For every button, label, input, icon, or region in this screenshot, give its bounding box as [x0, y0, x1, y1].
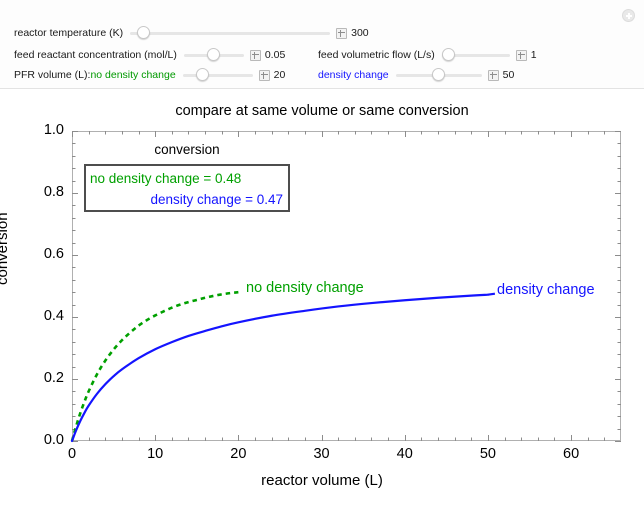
x-tick-label: 50	[463, 446, 513, 462]
slider-feed-volumetric-flow[interactable]	[442, 47, 510, 63]
control-label-feed-reactant-concentration: feed reactant concentration (mol/L)	[14, 46, 177, 64]
control-label-density-change: density change	[318, 66, 389, 84]
slider-thumb[interactable]	[137, 26, 150, 39]
slider-pfr-volume-no-density-change[interactable]	[183, 67, 253, 83]
x-tick-label: 40	[380, 446, 430, 462]
control-label-pfr-volume-prefix: PFR volume (L):	[14, 66, 90, 84]
legend-box: no density change = 0.48 density change …	[84, 164, 290, 212]
slider-thumb[interactable]	[207, 48, 220, 61]
slider-feed-reactant-concentration[interactable]	[184, 47, 244, 63]
stepper-plus-icon-pfr-volume-density-change[interactable]	[488, 70, 499, 81]
y-tick-label: 0.2	[10, 370, 64, 386]
slider-thumb[interactable]	[442, 48, 455, 61]
stepper-plus-icon-feed-volumetric-flow[interactable]	[516, 50, 527, 61]
demonstration-frame: reactor temperature (K) 300 feed reactan…	[0, 0, 644, 509]
y-tick-label: 0.6	[10, 246, 64, 262]
graphics-area: compare at same volume or same conversio…	[0, 89, 644, 509]
x-tick-label: 60	[546, 446, 596, 462]
y-axis-label: conversion	[0, 212, 11, 285]
stepper-plus-icon-feed-reactant-concentration[interactable]	[250, 50, 261, 61]
control-row-reactor-temperature: reactor temperature (K) 300	[14, 24, 369, 42]
slider-thumb[interactable]	[432, 68, 445, 81]
control-label-reactor-temperature: reactor temperature (K)	[14, 24, 123, 42]
control-value-feed-reactant-concentration: 0.05	[265, 46, 285, 64]
x-axis-label: reactor volume (L)	[0, 472, 644, 489]
y-tick-label: 0.0	[10, 432, 64, 448]
x-tick-label: 20	[213, 446, 263, 462]
y-tick-label: 0.8	[10, 184, 64, 200]
slider-thumb[interactable]	[196, 68, 209, 81]
control-label-no-density-change: no density change	[90, 66, 175, 84]
control-row-pfr-volume-density-change: density change 50	[318, 66, 514, 84]
legend-line-density-change: density change = 0.47	[90, 189, 283, 210]
slider-track	[183, 74, 253, 77]
curve-density-change	[72, 295, 488, 441]
control-value-pfr-volume-density-change: 50	[503, 66, 515, 84]
stepper-plus-icon-pfr-volume-no-density-change[interactable]	[259, 70, 270, 81]
data-curves	[72, 292, 495, 441]
slider-reactor-temperature[interactable]	[130, 25, 330, 41]
stepper-plus-icon-reactor-temperature[interactable]	[336, 28, 347, 39]
plus-circle-icon[interactable]	[622, 9, 635, 22]
slider-track	[130, 32, 330, 35]
controls-panel: reactor temperature (K) 300 feed reactan…	[0, 0, 644, 88]
control-value-feed-volumetric-flow: 1	[531, 46, 537, 64]
slider-pfr-volume-density-change[interactable]	[396, 67, 482, 83]
x-tick-label: 30	[297, 446, 347, 462]
curve-annotation-density-change: density change	[497, 282, 595, 298]
control-value-pfr-volume-no-density-change: 20	[274, 66, 286, 84]
legend-caption: conversion	[84, 142, 290, 157]
legend-line-no-density-change: no density change = 0.48	[90, 168, 283, 189]
curve-annotation-no-density-change: no density change	[246, 280, 364, 296]
curve-no-density-change	[72, 292, 238, 441]
x-tick-label: 0	[47, 446, 97, 462]
control-row-pfr-volume-no-density-change: PFR volume (L): no density change 20	[14, 66, 285, 84]
curve-leader-line	[488, 294, 495, 295]
control-value-reactor-temperature: 300	[351, 24, 369, 42]
control-row-feed-volumetric-flow: feed volumetric flow (L/s) 1	[318, 46, 537, 64]
y-tick-label: 0.4	[10, 308, 64, 324]
control-label-feed-volumetric-flow: feed volumetric flow (L/s)	[318, 46, 435, 64]
control-row-feed-reactant-concentration: feed reactant concentration (mol/L) 0.05	[14, 46, 285, 64]
y-tick-label: 1.0	[10, 122, 64, 138]
x-tick-label: 10	[130, 446, 180, 462]
